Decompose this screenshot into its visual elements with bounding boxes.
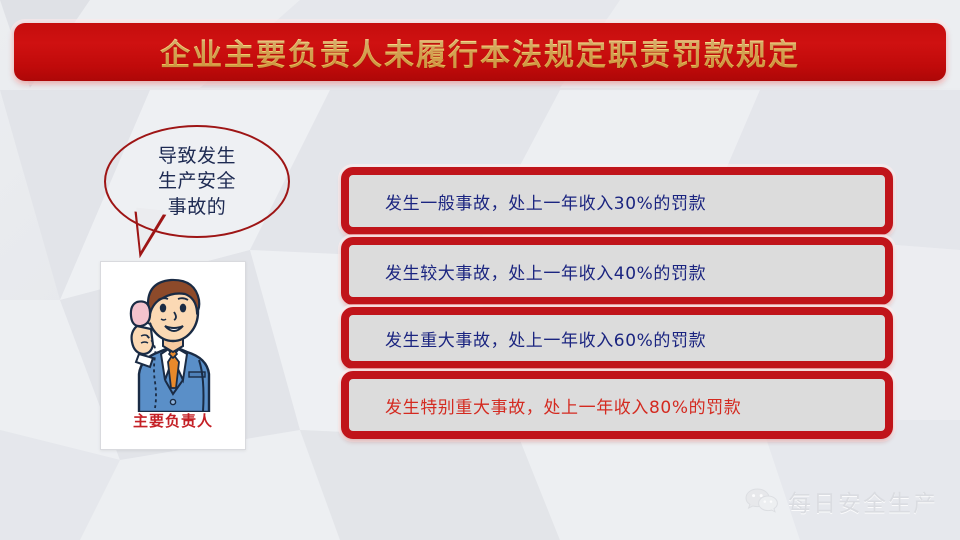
penalty-text-4: 发生特别重大事故，处上一年收入80%的罚款 [349,393,741,418]
person-role-label: 主要负责人 [133,410,213,431]
penalty-row: 发生特别重大事故，处上一年收入80%的罚款 [341,371,893,439]
penalty-row: 发生较大事故，处上一年收入40%的罚款 [341,237,893,305]
callout-line-3: 事故的 [168,195,227,219]
title-banner: 企业主要负责人未履行本法规定职责罚款规定 [14,23,946,81]
penalty-text-3: 发生重大事故，处上一年收入60%的罚款 [349,326,706,351]
speech-bubble-callout: 导致发生 生产安全 事故的 [104,125,290,238]
businessman-on-phone-illustration [101,262,245,412]
slide-canvas: 企业主要负责人未履行本法规定职责罚款规定 导致发生 生产安全 事故的 [0,0,960,540]
watermark: 每日安全生产 [745,484,938,518]
wechat-icon [745,487,779,515]
callout-line-2: 生产安全 [158,169,236,193]
watermark-text: 每日安全生产 [788,484,938,518]
penalty-text-1: 发生一般事故，处上一年收入30%的罚款 [349,189,706,214]
penalty-row: 发生一般事故，处上一年收入30%的罚款 [341,167,893,235]
penalty-row: 发生重大事故，处上一年收入60%的罚款 [341,307,893,369]
callout-line-1: 导致发生 [158,144,236,168]
person-card: 主要负责人 [100,261,246,450]
speech-bubble-text: 导致发生 生产安全 事故的 [104,125,290,238]
penalty-text-2: 发生较大事故，处上一年收入40%的罚款 [349,259,706,284]
page-title: 企业主要负责人未履行本法规定职责罚款规定 [160,30,800,74]
